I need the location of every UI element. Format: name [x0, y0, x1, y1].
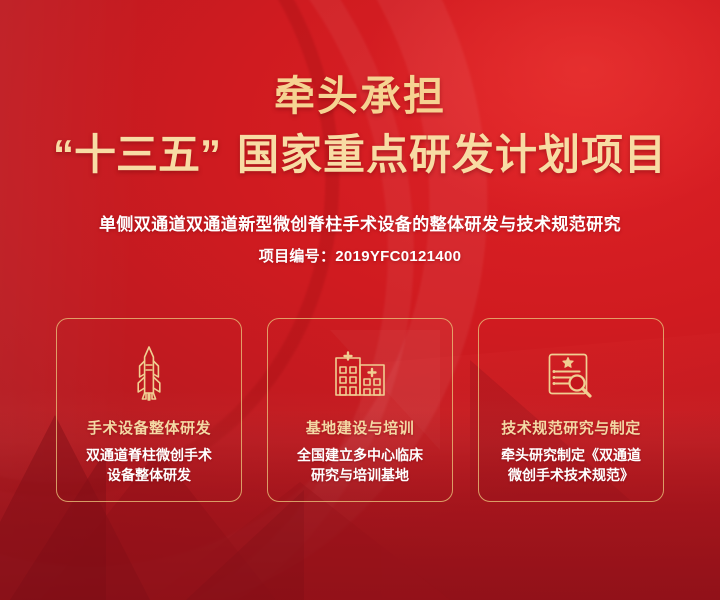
document-search-icon [546, 345, 596, 403]
poster-title-rest: 国家重点研发计划项目 [237, 131, 667, 178]
card-description: 双通道脊柱微创手术 设备整体研发 [69, 446, 229, 486]
feature-card-standards[interactable]: 技术规范研究与制定 牵头研究制定《双通道 微创手术技术规范》 [478, 318, 664, 502]
rocket-icon [129, 345, 169, 403]
card-description-line1: 全国建立多中心临床 [297, 447, 423, 463]
heading-block: 牵头承担 “十三五”国家重点研发计划项目 [0, 76, 720, 177]
feature-card-training-base[interactable]: 基地建设与培训 全国建立多中心临床 研究与培训基地 [267, 318, 453, 502]
hospital-building-icon [332, 345, 388, 403]
poster-title-main: 牵头承担 [0, 76, 720, 117]
card-description: 全国建立多中心临床 研究与培训基地 [280, 446, 440, 486]
card-title: 基地建设与培训 [306, 417, 415, 438]
card-title: 技术规范研究与制定 [501, 417, 641, 438]
poster-content: 牵头承担 “十三五”国家重点研发计划项目 单侧双通道双通道新型微创脊柱手术设备的… [0, 0, 720, 600]
poster-description: 单侧双通道双通道新型微创脊柱手术设备的整体研发与技术规范研究 [0, 210, 720, 235]
poster-banner: 牵头承担 “十三五”国家重点研发计划项目 单侧双通道双通道新型微创脊柱手术设备的… [0, 0, 720, 600]
poster-title-quoted: “十三五” [53, 131, 221, 178]
card-description-line2: 研究与培训基地 [311, 467, 409, 483]
card-title: 手术设备整体研发 [87, 417, 211, 438]
project-code: 项目编号：2019YFC0121400 [0, 245, 720, 266]
card-description: 牵头研究制定《双通道 微创手术技术规范》 [491, 446, 651, 486]
card-description-line2: 设备整体研发 [107, 467, 191, 483]
card-description-line2: 微创手术技术规范》 [508, 467, 634, 483]
feature-card-equipment[interactable]: 手术设备整体研发 双通道脊柱微创手术 设备整体研发 [56, 318, 242, 502]
feature-card-list: 手术设备整体研发 双通道脊柱微创手术 设备整体研发 [56, 318, 664, 502]
card-description-line1: 牵头研究制定《双通道 [501, 447, 641, 463]
card-description-line1: 双通道脊柱微创手术 [86, 447, 212, 463]
poster-title-sub: “十三五”国家重点研发计划项目 [0, 133, 720, 177]
